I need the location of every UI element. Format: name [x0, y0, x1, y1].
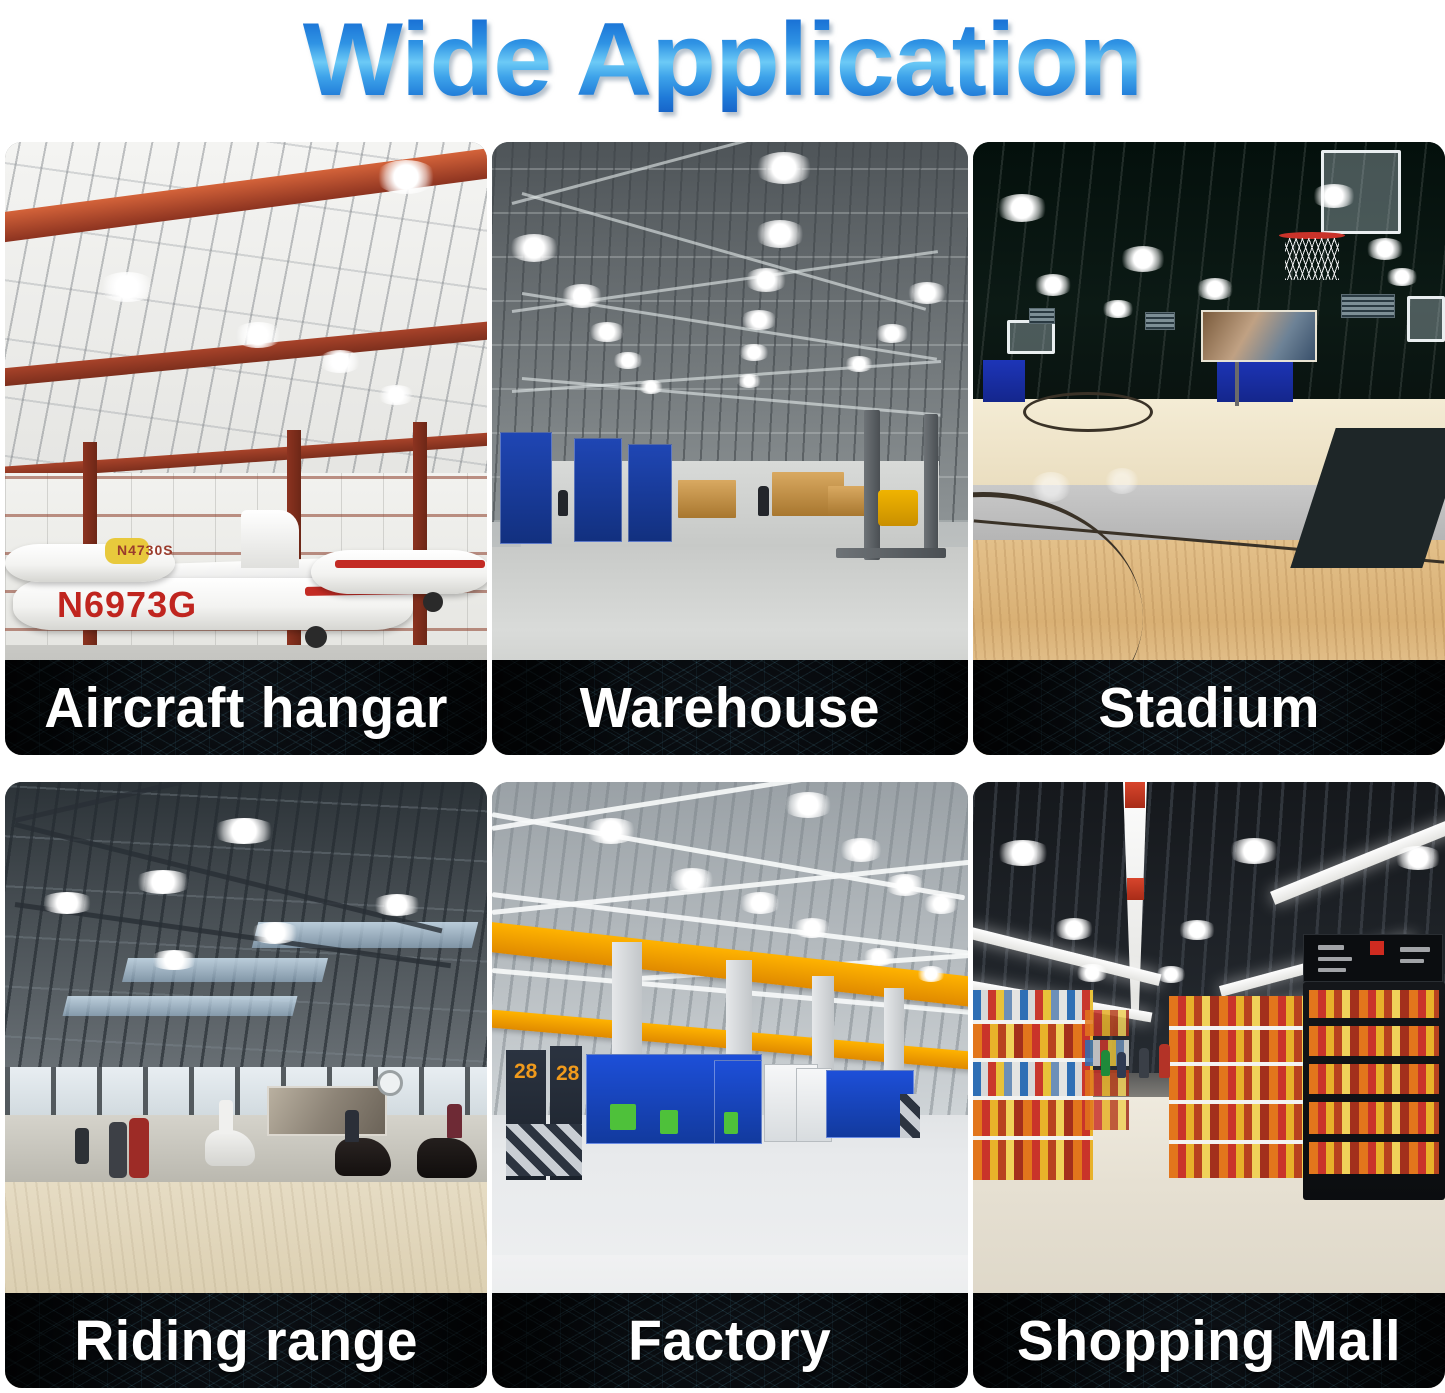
arena-banner	[267, 1086, 387, 1136]
hazard-stripes	[506, 1124, 582, 1176]
highbay-light	[508, 234, 560, 262]
product-row	[1309, 1064, 1439, 1094]
ceiling-red-band	[1127, 878, 1144, 900]
tile-shopping-mall[interactable]: Shopping Mall	[973, 782, 1445, 1388]
caption-label: Stadium	[1098, 679, 1320, 737]
roller-door	[574, 438, 622, 542]
highbay-light	[1119, 246, 1167, 272]
product-row	[1085, 1010, 1129, 1036]
highbay-light	[612, 352, 644, 369]
forklift-mast	[864, 410, 880, 560]
highbay-light	[995, 840, 1051, 866]
wall-pad	[1217, 358, 1293, 402]
highbay-light	[906, 282, 948, 304]
spectator	[75, 1128, 89, 1164]
product-row	[973, 1024, 1093, 1058]
spectator	[129, 1118, 149, 1178]
tile-stadium[interactable]: Stadium	[973, 142, 1445, 755]
machine-component	[610, 1104, 636, 1130]
highbay-light	[1177, 920, 1217, 940]
highbay-light	[377, 385, 415, 405]
highbay-light	[39, 892, 95, 914]
highbay-light	[792, 918, 832, 938]
ceiling-vent	[1341, 294, 1395, 318]
tile-warehouse[interactable]: Warehouse	[492, 142, 968, 755]
highbay-light	[782, 792, 834, 818]
product-row	[1309, 1026, 1439, 1056]
product-row	[973, 990, 1093, 1020]
shelf-unit-right	[1169, 996, 1309, 1178]
application-grid: N6973G N4730S Aircraft hangar	[5, 142, 1440, 1388]
ceiling-vent	[1029, 308, 1055, 324]
page-title-container: Wide Application	[0, 0, 1445, 120]
product-row	[1169, 996, 1309, 1026]
highbay-light	[738, 344, 770, 361]
highbay-light	[916, 966, 946, 982]
product-row	[1169, 1104, 1309, 1140]
worker	[558, 490, 568, 516]
aisle-sign	[1303, 934, 1443, 982]
floor-light-reflection	[1031, 472, 1071, 502]
highbay-light	[744, 268, 788, 292]
forklift-body	[878, 490, 918, 526]
rider	[447, 1104, 462, 1138]
highbay-light	[1365, 238, 1405, 260]
ceiling-red-band	[1125, 782, 1145, 808]
highbay-light	[375, 160, 437, 194]
highbay-light	[1053, 918, 1095, 940]
machine-component	[724, 1112, 738, 1134]
spectator	[109, 1122, 127, 1178]
caption-bar-factory: Factory	[492, 1293, 968, 1388]
highbay-light	[560, 284, 604, 308]
forklift-forks	[836, 548, 946, 558]
aircraft-wheel	[423, 592, 443, 612]
tile-riding-range[interactable]: Riding range	[5, 782, 487, 1388]
machine-enclosure	[714, 1060, 762, 1144]
roof-skylight	[63, 996, 298, 1016]
rider	[219, 1100, 233, 1134]
highbay-light	[1385, 268, 1419, 286]
machine-number-label: 28	[556, 1062, 579, 1086]
backboard-side	[1007, 320, 1055, 354]
highbay-light	[668, 868, 716, 892]
wall-clock	[377, 1070, 403, 1096]
highbay-light	[1195, 278, 1235, 300]
highbay-light	[754, 220, 806, 248]
shopper	[1117, 1052, 1126, 1078]
caption-bar-riding-range: Riding range	[5, 1293, 487, 1388]
highbay-light	[995, 194, 1049, 222]
sign-logo	[1370, 941, 1384, 955]
highbay-light	[874, 324, 910, 343]
sign-text-line	[1400, 959, 1424, 963]
pallet-stack	[678, 480, 736, 518]
ceiling-vent	[1145, 312, 1175, 330]
highbay-light	[1155, 966, 1187, 983]
page-title: Wide Application	[303, 8, 1142, 112]
highbay-light	[1393, 846, 1443, 870]
product-row	[973, 1140, 1093, 1180]
hoop-net	[1285, 238, 1339, 280]
caption-label: Riding range	[74, 1312, 418, 1370]
caption-label: Factory	[628, 1312, 831, 1370]
highbay-light	[1101, 300, 1135, 318]
highbay-light	[1227, 838, 1281, 864]
aircraft-wheel	[305, 626, 327, 648]
hangar-column-3	[413, 422, 427, 666]
worker	[758, 486, 769, 516]
highbay-light	[1033, 274, 1073, 296]
highbay-light	[233, 322, 283, 348]
floor-light-reflection	[1105, 468, 1139, 494]
highbay-light	[754, 152, 814, 184]
wide-application-poster: Wide Application	[0, 0, 1445, 1393]
sign-text-line	[1318, 968, 1346, 972]
highbay-light	[738, 892, 782, 914]
highbay-light	[584, 818, 638, 844]
aircraft-fuselage	[311, 550, 487, 594]
hazard-stripes	[900, 1094, 920, 1138]
highbay-light	[149, 950, 199, 970]
highbay-light	[318, 350, 362, 373]
highbay-light	[98, 272, 156, 302]
highbay-light	[211, 818, 277, 844]
highbay-light	[638, 380, 664, 394]
highbay-light	[1311, 184, 1357, 208]
caption-bar-shopping-mall: Shopping Mall	[973, 1293, 1445, 1388]
highbay-light	[884, 874, 926, 896]
caption-label: Shopping Mall	[1017, 1312, 1401, 1370]
sign-text-line	[1318, 945, 1344, 950]
roller-door	[628, 444, 672, 542]
highbay-light	[1075, 964, 1109, 982]
product-row	[1169, 1066, 1309, 1100]
clerestory-windows	[5, 1067, 487, 1122]
caption-label: Aircraft hangar	[44, 679, 448, 737]
product-row	[1309, 1142, 1439, 1174]
highbay-light	[249, 922, 301, 944]
product-row	[1309, 1102, 1439, 1134]
aircraft-stripe	[335, 560, 485, 568]
backboard-far	[1407, 296, 1445, 342]
shopper	[1159, 1044, 1170, 1078]
highbay-light	[736, 374, 762, 388]
sign-text-line	[1318, 957, 1352, 961]
product-row	[973, 1100, 1093, 1136]
caption-bar-stadium: Stadium	[973, 660, 1445, 755]
highbay-light	[740, 310, 778, 330]
product-row	[1169, 1030, 1309, 1062]
highbay-light	[922, 894, 960, 914]
caption-bar-aircraft-hangar: Aircraft hangar	[5, 660, 487, 755]
shopper	[1139, 1048, 1149, 1078]
aircraft-registration: N6973G	[57, 584, 197, 626]
forklift-mast	[924, 414, 938, 556]
product-row	[973, 1062, 1093, 1096]
product-row	[1309, 990, 1439, 1018]
endcap-display	[1303, 982, 1445, 1200]
sign-text-line	[1400, 947, 1430, 952]
court-center-circle	[1023, 392, 1153, 432]
roller-door	[500, 432, 552, 544]
highbay-light	[838, 838, 884, 862]
highbay-light	[133, 870, 193, 894]
highbay-light	[862, 948, 896, 966]
highbay-light	[844, 356, 874, 372]
product-row	[1169, 1144, 1309, 1178]
shopper	[1101, 1050, 1110, 1076]
aircraft-registration-small: N4730S	[117, 542, 174, 558]
wall-pad	[983, 360, 1025, 402]
rider	[345, 1110, 359, 1142]
caption-label: Warehouse	[580, 679, 880, 737]
tile-aircraft-hangar[interactable]: N6973G N4730S Aircraft hangar	[5, 142, 487, 755]
shelf-unit-left	[973, 990, 1093, 1180]
product-row	[1085, 1100, 1129, 1130]
aircraft-tail	[241, 510, 299, 568]
machine-component	[660, 1110, 678, 1134]
highbay-light	[371, 894, 423, 916]
machine-number-label: 28	[514, 1060, 537, 1084]
tile-factory[interactable]: 28 28	[492, 782, 968, 1388]
wall-poster	[1201, 310, 1317, 362]
highbay-light	[588, 322, 626, 342]
shelf-unit-left-far	[1085, 1010, 1129, 1146]
caption-bar-warehouse: Warehouse	[492, 660, 968, 755]
